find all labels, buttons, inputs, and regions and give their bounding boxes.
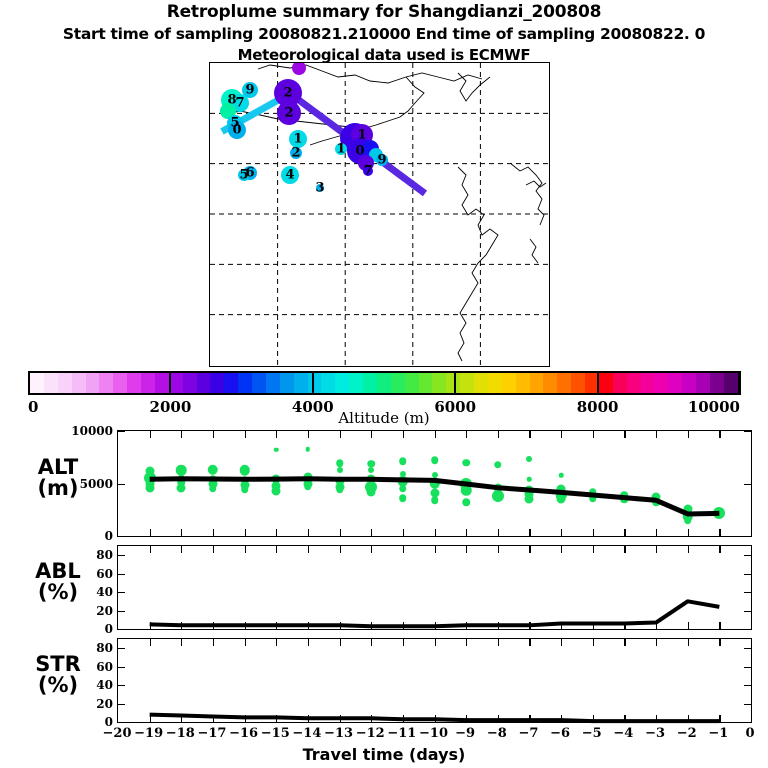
str-timeseries-panel: 020406080 [117, 638, 752, 723]
map-marker-label: 1 [336, 142, 345, 157]
y-tick-label: 20 [96, 604, 113, 618]
page-title: Retroplume summary for Shangdianzi_20080… [0, 2, 768, 22]
x-tick-label: −2 [677, 726, 697, 741]
xaxis-title: Travel time (days) [0, 745, 768, 764]
colorbar-tick-mark [454, 371, 456, 395]
x-tick-label: −4 [613, 726, 633, 741]
altitude-timeseries-panel: 0500010000 [117, 430, 752, 537]
altitude-plot-area: 0500010000 [118, 431, 751, 536]
abl-axis-label: ABL (%) [8, 561, 108, 603]
map-marker-label: 2 [291, 146, 300, 161]
altitude-label-line1: ALT [8, 457, 108, 478]
y-tick-mark [118, 536, 125, 537]
x-tick-label: −10 [419, 726, 448, 741]
y-tick-mark [744, 722, 751, 723]
abl-label-line2: (%) [8, 582, 108, 603]
x-tick-label: −19 [134, 726, 163, 741]
colorbar-tick-mark [312, 371, 314, 395]
map-marker-label: 0 [355, 144, 364, 159]
coastline-path [526, 181, 546, 187]
y-tick-mark [118, 629, 125, 630]
series-line-layer [118, 431, 751, 536]
travel-time-tick-labels: −20−19−18−17−16−15−14−13−12−11−10−9−8−7−… [117, 726, 752, 746]
map-marker-label: 1 [293, 132, 302, 147]
colorbar-title: Altitude (m) [0, 409, 768, 427]
map-marker-label: 4 [285, 168, 294, 183]
y-tick-label: 0 [105, 622, 113, 636]
altitude-axis-label: ALT (m) [8, 457, 108, 499]
x-tick-label: −13 [324, 726, 353, 741]
series-line-layer [118, 639, 751, 722]
x-tick-label: −16 [229, 726, 258, 741]
map-marker-label: 9 [245, 83, 254, 98]
colorbar-tick-mark [739, 371, 741, 395]
y-tick-label: 0 [105, 529, 113, 543]
map-marker-label: 9 [377, 153, 386, 168]
x-tick-label: −11 [387, 726, 416, 741]
colorbar-tick-mark [169, 371, 171, 395]
x-tick-label: −6 [550, 726, 570, 741]
x-tick-label: −20 [103, 726, 132, 741]
map-marker-label: 2 [283, 86, 292, 101]
abl-label-line1: ABL [8, 561, 108, 582]
x-tick-label: −12 [356, 726, 385, 741]
coastline-path [458, 73, 490, 101]
map-marker-label: 2 [284, 106, 293, 121]
map-marker-label: 7 [363, 164, 372, 179]
x-tick-label: −1 [708, 726, 728, 741]
str-label-line1: STR [8, 654, 108, 675]
x-tick-label: −18 [166, 726, 195, 741]
map-marker-label: 0 [232, 123, 241, 138]
coastline-path [510, 163, 544, 225]
x-tick-label: −5 [582, 726, 602, 741]
series-mean-line [150, 479, 720, 514]
str-axis-label: STR (%) [8, 654, 108, 696]
y-tick-label: 20 [96, 697, 113, 711]
series-line-layer [118, 546, 751, 629]
map-marker-label: 5 [239, 168, 248, 183]
x-tick-label: −15 [261, 726, 290, 741]
retroplume-map: 987502212654310971 [209, 62, 550, 367]
coastline-path [530, 239, 538, 263]
colorbar-tick-mark [597, 371, 599, 395]
map-marker-label: 3 [315, 181, 324, 196]
map-marker-label: 7 [235, 96, 244, 111]
x-tick-label: −9 [455, 726, 475, 741]
sampling-time-subtitle: Start time of sampling 20080821.210000 E… [0, 25, 768, 43]
y-tick-label: 10000 [71, 424, 113, 438]
y-tick-mark [744, 536, 751, 537]
altitude-label-line2: (m) [8, 478, 108, 499]
abl-timeseries-panel: 020406080 [117, 545, 752, 630]
x-tick-label: 0 [745, 726, 754, 741]
series-mean-line [150, 601, 720, 626]
map-marker-label: 1 [357, 128, 366, 143]
map-inner: 987502212654310971 [210, 63, 549, 366]
y-tick-mark [118, 722, 125, 723]
y-tick-mark [744, 629, 751, 630]
series-mean-line [150, 715, 720, 721]
x-tick-label: −14 [292, 726, 321, 741]
x-tick-label: −3 [645, 726, 665, 741]
x-tick-label: −8 [487, 726, 507, 741]
str-label-line2: (%) [8, 675, 108, 696]
x-tick-label: −7 [518, 726, 538, 741]
x-tick-label: −17 [197, 726, 226, 741]
str-plot-area: 020406080 [118, 639, 751, 722]
abl-plot-area: 020406080 [118, 546, 751, 629]
